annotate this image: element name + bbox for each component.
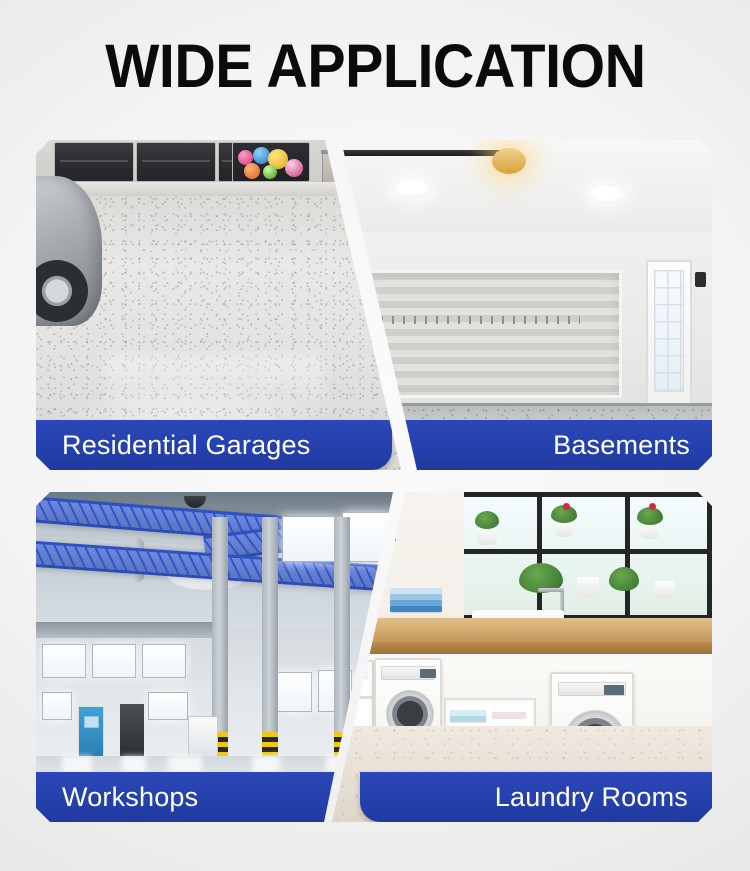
workshop-window (282, 516, 336, 562)
workshop-window (276, 672, 312, 712)
flower-icon (563, 503, 570, 510)
door-glass (654, 270, 684, 392)
tile-label-text: Laundry Rooms (495, 782, 688, 813)
plant-leaf-icon (637, 507, 663, 525)
ball-icon (244, 163, 260, 179)
wall-keypad-icon (695, 272, 706, 287)
ball-icon (285, 159, 303, 177)
slatwall-hooks (370, 316, 580, 324)
potted-plant-icon (555, 521, 573, 537)
workshop-column (334, 517, 350, 758)
application-gallery-grid: Residential Garages (36, 140, 712, 822)
workshop-equipment-cabinet (188, 716, 218, 758)
machine-display (604, 685, 624, 695)
basement-door (646, 260, 692, 408)
laundry-window (454, 492, 712, 620)
folded-linen (450, 716, 486, 722)
machine-display (420, 669, 436, 678)
window-mullion (537, 497, 542, 615)
garage-door-rail (332, 150, 507, 156)
folded-linen (492, 712, 526, 718)
workshop-window (142, 644, 186, 678)
tile-label-basements: Basements (392, 420, 712, 470)
garage-ball-shelf (232, 142, 310, 182)
workshop-window (148, 692, 188, 720)
plant-leaf-icon (609, 567, 639, 591)
workshop-wall-band (36, 622, 216, 638)
tile-label-text: Residential Garages (62, 430, 310, 461)
window-mullion (459, 549, 707, 554)
potted-plant-icon (655, 581, 675, 599)
potted-plant-icon (477, 527, 497, 545)
floor-reflection (104, 355, 324, 426)
recessed-light-icon (587, 186, 627, 203)
flower-icon (649, 503, 656, 510)
workshop-column (262, 517, 278, 758)
ceiling-lamp-icon (492, 148, 526, 174)
ball-icon (263, 165, 277, 179)
page-title: WIDE APPLICATION (105, 36, 645, 97)
tile-label-residential-garages: Residential Garages (36, 420, 392, 470)
column-hazard-stripe (262, 732, 278, 758)
workshop-window (42, 644, 86, 678)
plant-leaf-icon (475, 511, 499, 529)
window-mullion (625, 497, 630, 615)
workshop-window (42, 692, 72, 720)
garage-cabinet-icon (54, 142, 134, 182)
gallery-row-top: Residential Garages (36, 140, 712, 470)
workshop-blue-door (78, 706, 104, 758)
workshop-doorway (120, 704, 144, 758)
gallery-row-bottom: Workshops (36, 492, 712, 822)
potted-plant-icon (641, 523, 659, 539)
tile-label-text: Basements (553, 430, 690, 461)
garage-cabinet-icon (136, 142, 216, 182)
workshop-window (92, 644, 136, 678)
folded-linen (390, 606, 442, 612)
recessed-light-icon (392, 180, 432, 197)
potted-plant-icon (577, 577, 599, 597)
countertop-edge (324, 642, 712, 654)
door-muntin-grid (654, 270, 684, 392)
tile-label-laundry-rooms: Laundry Rooms (360, 772, 712, 822)
slatwall-panel (362, 270, 622, 398)
header: WIDE APPLICATION (0, 0, 750, 133)
tile-label-text: Workshops (62, 782, 198, 813)
